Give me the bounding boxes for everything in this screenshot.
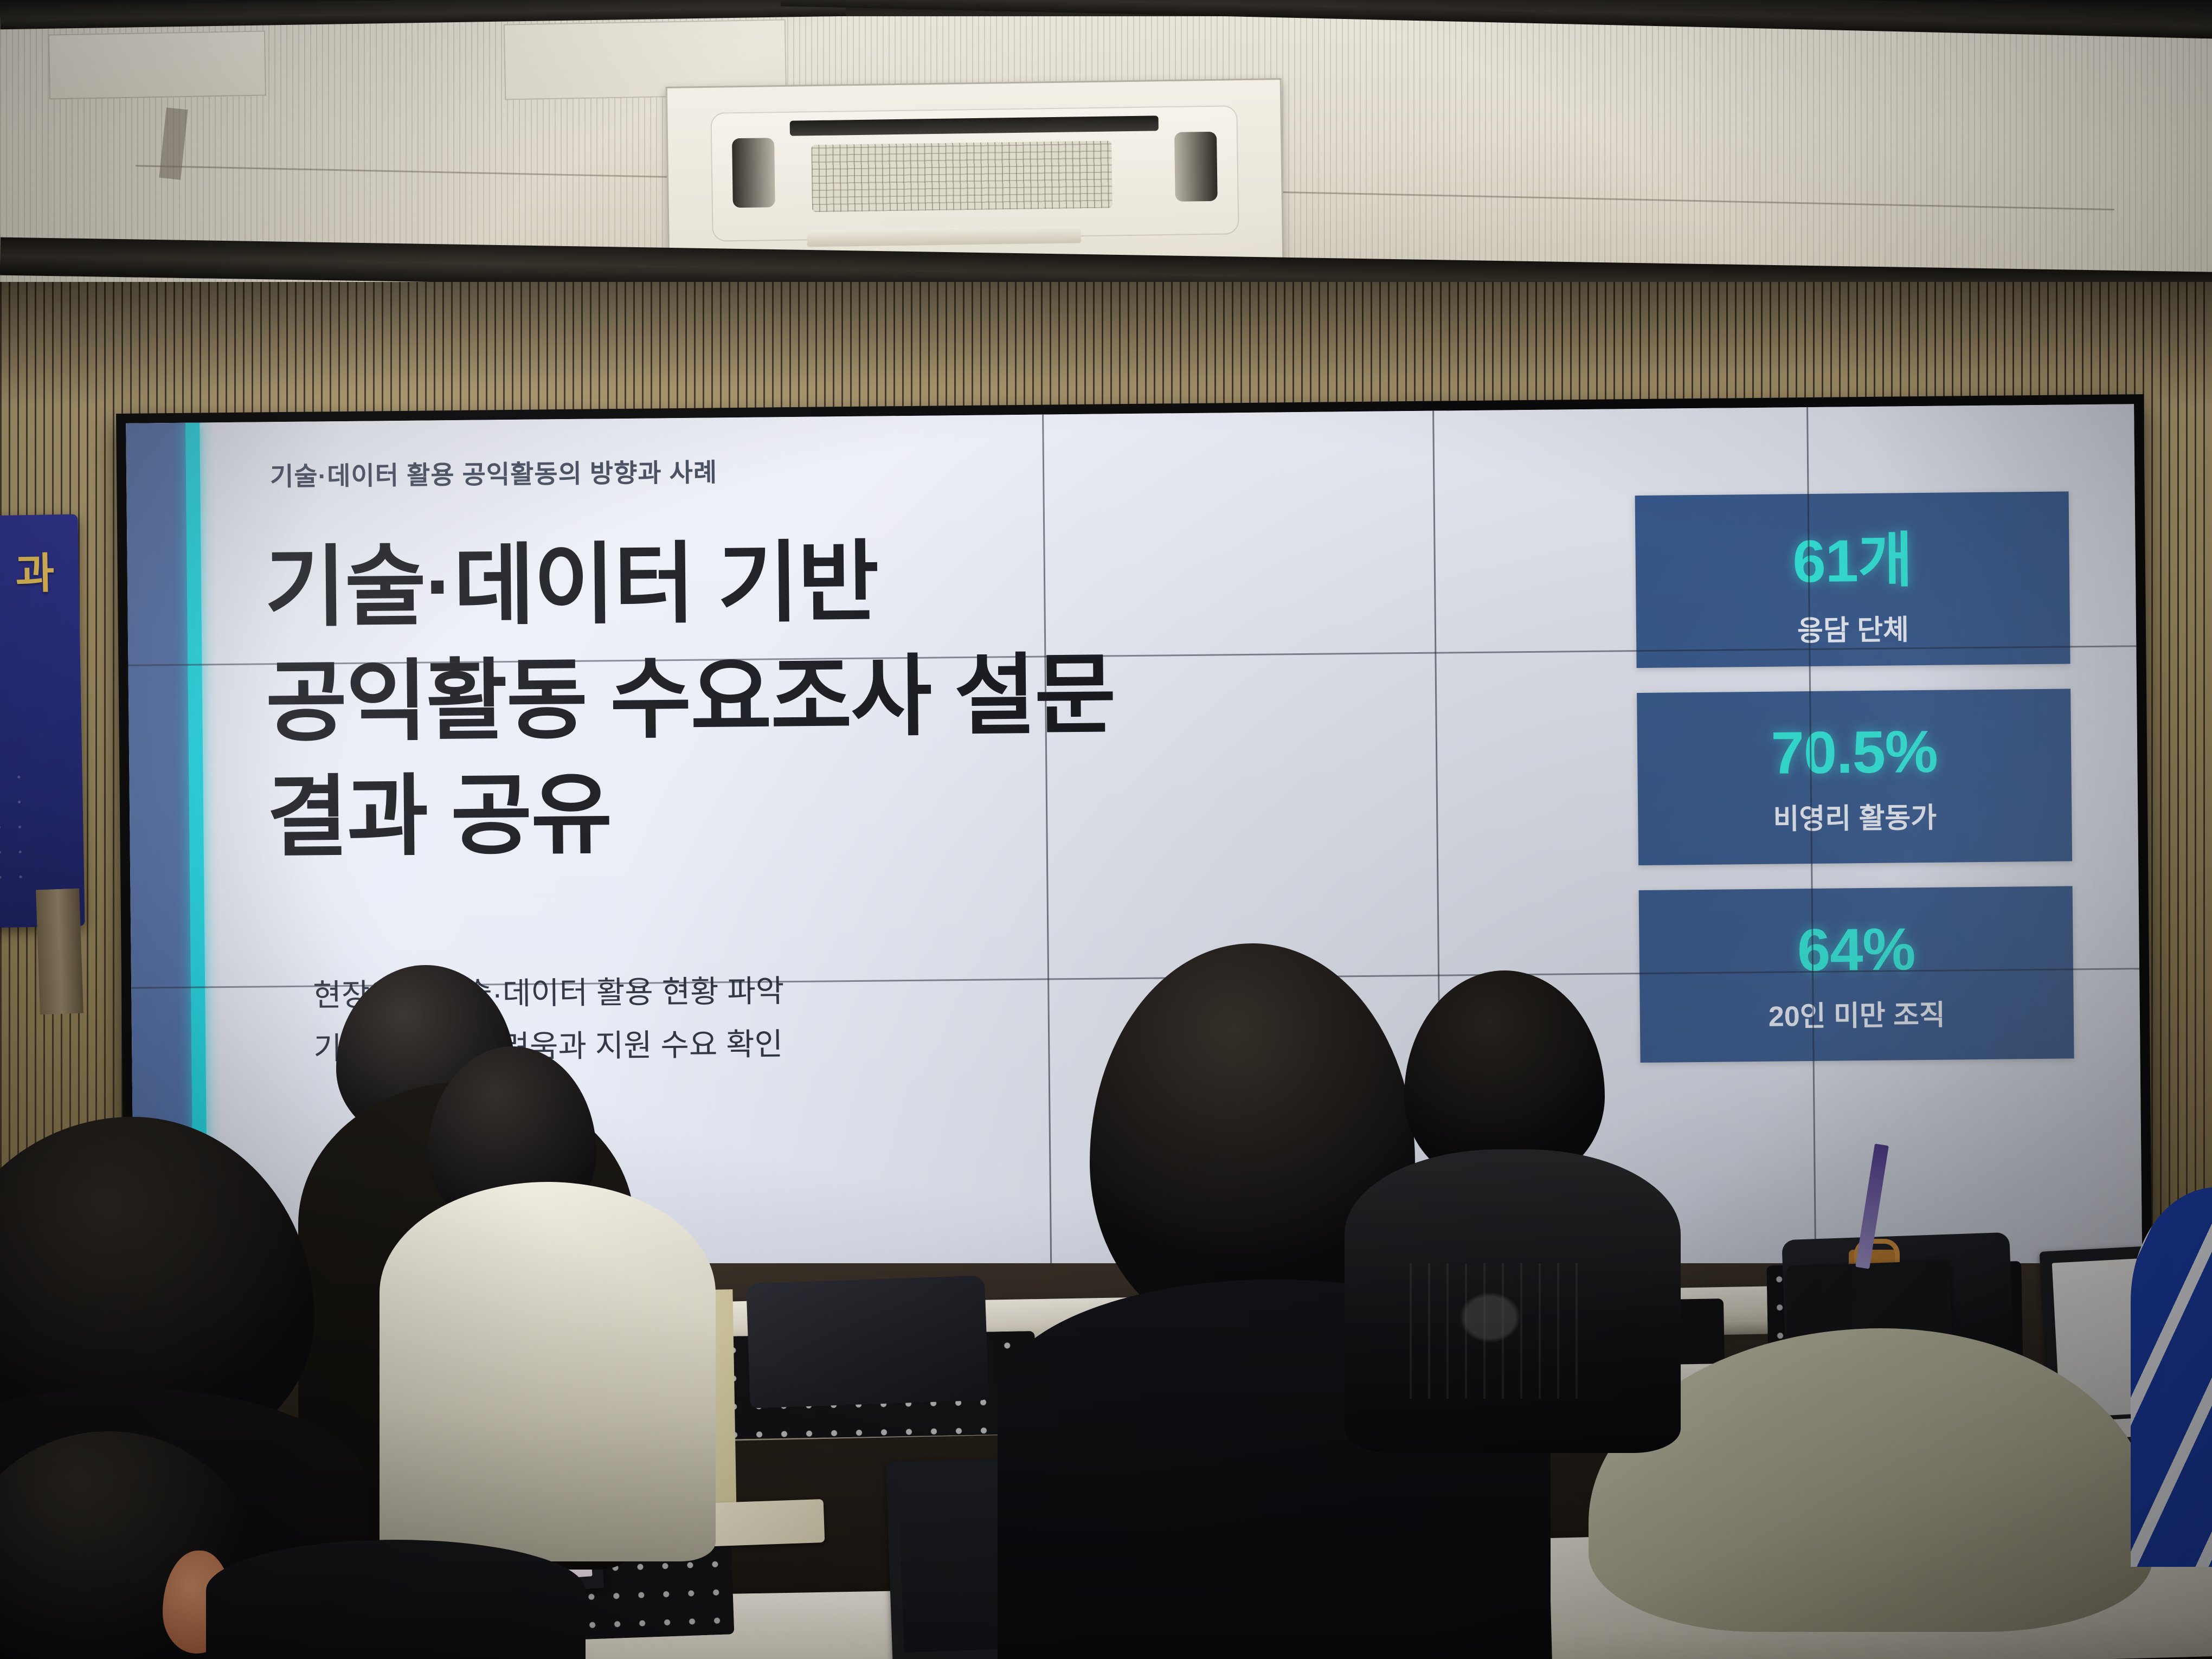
- screenshot-scene: 결 과 기술·데이터 활용 공익활동의 방향과 사례 기술·데이터 기반 공익활…: [0, 0, 2212, 1659]
- ceiling-panel-left: [48, 31, 266, 100]
- stat-label-2: 비영리 활동가: [1773, 795, 1937, 837]
- slide-title-line-2: 공익활동 수요조사 설문: [265, 632, 1622, 760]
- stat-card-small-orgs: 64% 20인 미만 조직: [1639, 886, 2074, 1063]
- slide-eyebrow: 기술·데이터 활용 공익활동의 방향과 사례: [270, 451, 718, 493]
- left-banner-text: 결 과: [0, 547, 56, 601]
- slide-title: 기술·데이터 기반 공익활동 수요조사 설문 결과 공유: [264, 517, 1623, 875]
- ac-grille: [811, 140, 1113, 211]
- left-banner-pattern: [0, 764, 38, 885]
- slide-title-line-1: 기술·데이터 기반: [264, 517, 1621, 645]
- slide-stat-cards: 61개 응담 단체 70.5% 비영리 활동가 64% 20인 미만 조직: [1635, 491, 2074, 1088]
- wall-top-shadow: [0, 282, 2212, 407]
- stat-value-1: 61개: [1792, 511, 1913, 599]
- stat-label-1: 응담 단체: [1797, 607, 1909, 648]
- ac-inner-panel: [710, 105, 1239, 241]
- ac-vane-left: [732, 138, 775, 208]
- stat-value-3: 64%: [1797, 915, 1915, 985]
- left-wall-banner: 결 과: [0, 514, 85, 928]
- wall-mount-bracket: [36, 889, 83, 1015]
- ac-vane-right: [1174, 131, 1218, 201]
- hoodie-graphic-print: [1410, 1263, 1589, 1399]
- ac-vane-bottom: [807, 226, 1081, 247]
- stat-value-2: 70.5%: [1771, 717, 1938, 788]
- slide-title-line-3: 결과 공유: [266, 747, 1623, 875]
- torso-left-white: [380, 1182, 716, 1561]
- stat-label-3: 20인 미만 조직: [1768, 992, 1945, 1034]
- stat-card-responding-orgs: 61개 응담 단체: [1635, 491, 2070, 668]
- torso-far-right-striped: [2131, 1187, 2212, 1567]
- torso-bottom-left: [206, 1540, 586, 1659]
- ac-vane-top: [789, 115, 1159, 136]
- backpack-center: [746, 1275, 989, 1408]
- ceiling-air-conditioner: [666, 78, 1284, 269]
- stat-card-nonprofit-activists: 70.5% 비영리 활동가: [1637, 689, 2072, 865]
